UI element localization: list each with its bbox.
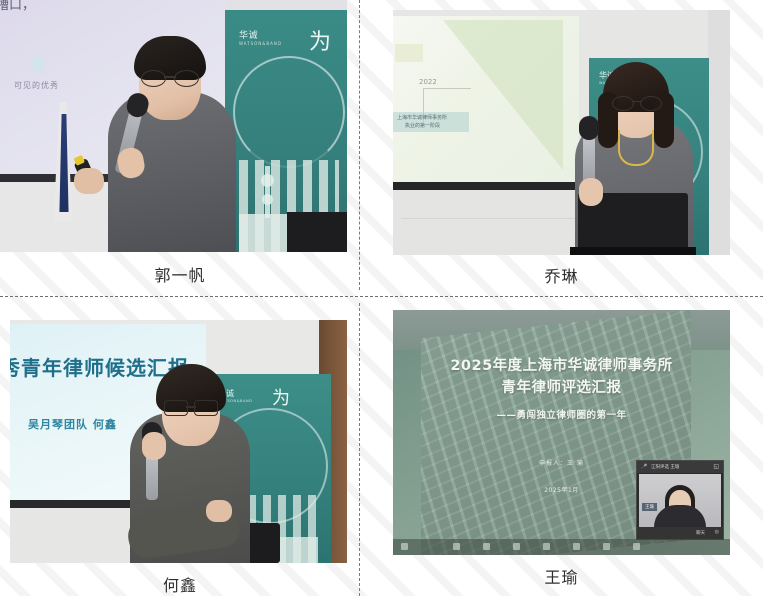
horizontal-divider [0, 296, 763, 297]
photo-4-video-window-footer: 聊天 ◎ [637, 527, 723, 539]
grid-cell-panel-3: 秀青年律师候选汇报 吴月琴团队 何鑫 华诚 WATSON&BAND 为 [0, 296, 360, 596]
photo-1-poster-brand-en: WATSON&BAND [239, 41, 282, 46]
photo-1-poster-brand: 华诚 WATSON&BAND [239, 28, 282, 46]
photo-2-slide-chip [395, 44, 423, 62]
photo-2-slide-label-line1: 上海市华诚律师事务所 [397, 114, 447, 121]
photo-4-slide-title-line2: 青年律师评选汇报 [393, 376, 730, 397]
grid-cell-panel-4: 2025年度上海市华诚律师事务所 青年律师评选汇报 ——勇闯独立律师圈的第一年 … [360, 296, 763, 596]
photo-1-slide-line2-small: · [0, 20, 1, 30]
grid-cell-panel-2: 2022 上海市华诚律师事务所 执业的第一阶段 华诚 WATSON&BAND [360, 0, 763, 296]
photo-grid: 槽口， · 可见的优秀 华诚 WATSON&BAND 为 [0, 0, 763, 596]
photo-4-video-window-titlebar: 🎤 江阳评选 王瑜 ◱ [637, 461, 723, 473]
photo-4-slide-subtitle: ——勇闯独立律师圈的第一年 [393, 407, 730, 421]
microphone-icon: 🎤 [641, 464, 647, 470]
photo-panel-2[interactable]: 2022 上海市华诚律师事务所 执业的第一阶段 华诚 WATSON&BAND [393, 10, 730, 255]
expand-icon[interactable]: ◱ [713, 463, 719, 470]
photo-panel-1[interactable]: 槽口， · 可见的优秀 华诚 WATSON&BAND 为 [0, 0, 347, 252]
photo-panel-3[interactable]: 秀青年律师候选汇报 吴月琴团队 何鑫 华诚 WATSON&BAND 为 [10, 320, 347, 563]
more-icon[interactable]: ◎ [715, 529, 719, 535]
photo-panel-4[interactable]: 2025年度上海市华诚律师事务所 青年律师评选汇报 ——勇闯独立律师圈的第一年 … [393, 310, 730, 555]
photo-2-wall-right [708, 10, 730, 255]
photo-1-desk [287, 212, 347, 252]
taskbar-icon-2 [453, 543, 460, 550]
caption-panel-1: 郭一帆 [154, 268, 205, 284]
photo-2-slide-year: 2022 [419, 78, 437, 86]
photo-2-slide-label-line2: 执业的第一阶段 [405, 122, 440, 129]
photo-3-person-hand-2 [206, 500, 232, 522]
taskbar-icon-7 [603, 543, 610, 550]
photo-1-person-hand-left [74, 168, 104, 194]
photo-1-poster-brand-cn: 华诚 [239, 31, 258, 41]
photo-2-person-hand [579, 178, 603, 206]
photo-1-person-glasses [141, 70, 199, 85]
vertical-divider-bottom [359, 303, 360, 596]
caption-panel-2: 乔琳 [544, 269, 578, 285]
photo-4-video-person-body [654, 505, 706, 527]
photo-1-slide-line2: 可见的优秀 [14, 80, 59, 91]
photo-3-slide-subtitle: 吴月琴团队 何鑫 [28, 416, 117, 432]
photo-4-video-footer-label[interactable]: 聊天 [696, 530, 705, 536]
photo-2-slide-label-box: 上海市华诚律师事务所 执业的第一阶段 [393, 112, 469, 132]
caption-panel-3: 何鑫 [163, 578, 197, 594]
taskbar-icon-4 [513, 543, 520, 550]
grid-cell-panel-1: 槽口， · 可见的优秀 华诚 WATSON&BAND 为 [0, 0, 360, 296]
photo-2-slide-axis-horizontal [423, 88, 471, 89]
photo-4-video-window-title: 江阳评选 王瑜 [651, 464, 679, 470]
photo-4-slide-title-line1: 2025年度上海市华诚律师事务所 [393, 354, 730, 375]
photo-4-video-feed: 王瑜 [639, 474, 721, 527]
photo-2-projection-slide: 2022 上海市华诚律师事务所 执业的第一阶段 [393, 16, 579, 184]
caption-panel-4: 王瑜 [544, 570, 578, 586]
photo-4-taskbar [393, 539, 730, 555]
photo-4-video-conference-window[interactable]: 🎤 江阳评选 王瑜 ◱ 王瑜 聊天 ◎ [636, 460, 724, 540]
taskbar-icon-8 [633, 543, 640, 550]
photo-2-person-glasses [612, 96, 662, 109]
taskbar-icon-6 [573, 543, 580, 550]
taskbar-icon-1 [401, 543, 408, 550]
photo-1-slide-badge-icon [30, 56, 46, 72]
photo-3-poster-mark: 为 [272, 384, 290, 410]
photo-2-screen-frame [393, 182, 583, 190]
photo-1-poster-arc-graphic [233, 56, 345, 168]
photo-1-slide-line1: 槽口， [0, 0, 35, 13]
photo-2-slide-fan-graphic [443, 20, 563, 170]
vertical-divider-top [359, 0, 360, 290]
photo-4-video-name-tag: 王瑜 [642, 503, 657, 511]
photo-2-wall [393, 190, 593, 255]
photo-1-poster-tower-graphic [265, 166, 270, 218]
photo-1-poster-mark: 为 [309, 24, 331, 56]
photo-3-person-hand [142, 432, 166, 460]
photo-2-wall-seam [401, 218, 577, 219]
photo-3-person-glasses [164, 400, 218, 414]
taskbar-icon-3 [483, 543, 490, 550]
taskbar-icon-5 [543, 543, 550, 550]
photo-2-person-lanyard [618, 130, 654, 166]
